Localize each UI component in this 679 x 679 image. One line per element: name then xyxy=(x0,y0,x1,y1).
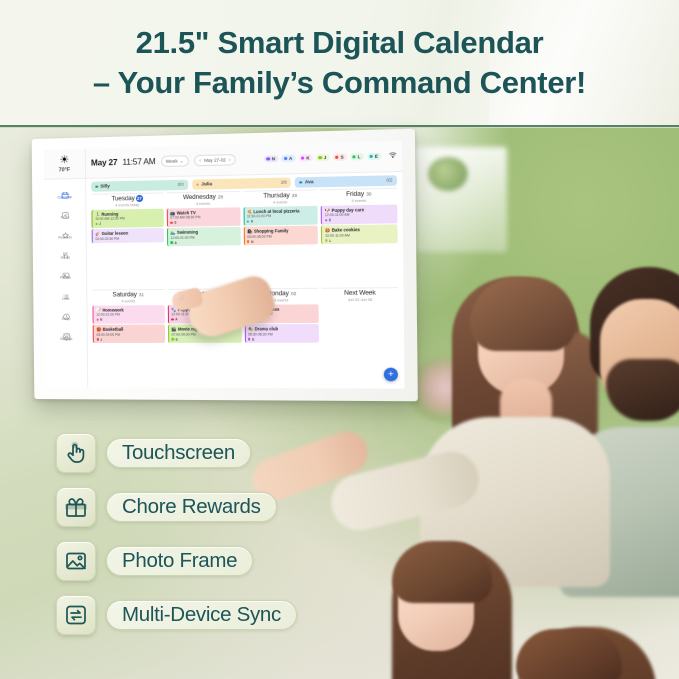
headline-line-2: – Your Family’s Command Center! xyxy=(93,63,586,103)
add-event-button[interactable]: + xyxy=(384,368,398,382)
rewards-icon xyxy=(61,226,69,234)
event-attendee: E xyxy=(325,217,395,222)
member-color-dot xyxy=(301,156,305,160)
feature-label-pill: Chore Rewards xyxy=(106,492,277,522)
event-title-text: Running xyxy=(101,211,118,216)
member-chip-l[interactable]: L xyxy=(350,153,364,161)
sidebar-item-label: Settings xyxy=(60,337,73,341)
feature-badge-multi-device-sync: Multi-Device Sync xyxy=(56,595,297,635)
day-column-wednesday[interactable]: Wednesday284 events📺 Watch TV07:00 AM-08… xyxy=(166,191,240,287)
attendee-initial: J xyxy=(100,338,102,342)
feature-badge-photo-frame: Photo Frame xyxy=(56,541,297,581)
day-event-count: 4 events today xyxy=(91,202,163,207)
attendee-dot xyxy=(325,239,328,242)
view-select[interactable]: Week ⌄ xyxy=(161,155,189,167)
member-chip-a[interactable]: A xyxy=(281,154,296,162)
attendee-initial: S xyxy=(174,221,176,225)
sidebar-item-label: Sleep xyxy=(61,317,70,321)
event-emoji: 🎸 xyxy=(95,231,100,236)
day-column-saturday[interactable]: Saturday314 events📝 Homework12:00-01:00 … xyxy=(92,289,165,384)
event-list: 🐶 Puppy day care12:00-11:00 AME🍪 Bake co… xyxy=(321,204,398,244)
event-attendee: S xyxy=(170,220,237,225)
attendee-initial: N xyxy=(251,239,253,243)
day-number: 29 xyxy=(292,193,297,198)
event-card[interactable]: 🏃 Running10:00 AM-12:00 PMJ xyxy=(91,209,163,228)
event-title-text: Watch TV xyxy=(177,210,196,215)
attendee-initial: J xyxy=(99,222,101,226)
event-emoji: 🏃 xyxy=(95,212,100,217)
sidebar-nav: CalendarTasksRewardsMealsPhotosListsSlee… xyxy=(44,179,88,387)
day-event-count: Jun 02-Jun 08 xyxy=(344,298,376,302)
attendee-initial: E xyxy=(252,337,254,341)
sidebar-item-label: Tasks xyxy=(60,215,69,219)
sidebar-item-settings[interactable]: Settings xyxy=(46,324,87,344)
day-header: Friday305 events xyxy=(321,190,397,203)
current-time: 11:57 AM xyxy=(122,157,155,167)
sidebar-item-photos[interactable]: Photos xyxy=(45,263,86,284)
chore-card-silly[interactable]: Silly0/0 xyxy=(91,180,188,192)
chore-person-name: Ava xyxy=(305,179,314,184)
sidebar-item-tasks[interactable]: Tasks xyxy=(44,202,85,223)
lists-icon xyxy=(62,287,70,295)
day-number-today-badge: 27 xyxy=(136,195,143,202)
member-chip-j[interactable]: J xyxy=(316,153,330,161)
event-time: 05:30-06:30 PM xyxy=(248,332,316,337)
touch-hand-icon xyxy=(56,433,96,473)
event-card[interactable]: 🏀 Basketball03:00-04:00 PMJ xyxy=(93,325,165,343)
event-card[interactable]: 🍪 Bake cookies10:00-11:00 AML xyxy=(321,225,397,245)
member-initial: A xyxy=(289,156,292,161)
attendee-initial: L xyxy=(329,238,331,242)
attendee-dot xyxy=(96,319,98,321)
member-initial: E xyxy=(375,154,378,159)
sidebar-item-rewards[interactable]: Rewards xyxy=(44,223,85,244)
chore-color-dot xyxy=(196,183,199,186)
day-name-text: Wednesday xyxy=(183,194,216,202)
attendee-dot xyxy=(247,240,250,242)
weather-temperature: 70°F xyxy=(59,167,71,173)
attendee-initial: A xyxy=(174,241,176,245)
attendee-initial: E xyxy=(329,218,331,222)
member-color-dot xyxy=(266,157,270,161)
day-column-thursday[interactable]: Thursday294 events🍕 Lunch at local pizze… xyxy=(243,189,319,286)
sidebar-item-label: Rewards xyxy=(58,235,72,239)
chore-person-name: Julia xyxy=(201,182,212,187)
day-number: 02 xyxy=(291,291,296,296)
event-emoji: 🏊 xyxy=(170,230,175,235)
event-attendee: E xyxy=(248,337,316,341)
feature-label: Multi-Device Sync xyxy=(122,603,281,627)
event-card[interactable]: 📝 Homework12:00-01:00 PMN xyxy=(92,305,164,324)
day-name-text: Friday xyxy=(346,191,364,199)
member-initial: K xyxy=(306,155,309,160)
chore-card-julia[interactable]: Julia3/8 xyxy=(192,177,291,189)
event-card[interactable]: 🏊 Swimming12:00-01:00 PMA xyxy=(167,227,241,246)
day-column-tuesday[interactable]: Tuesday274 events today🏃 Running10:00 AM… xyxy=(91,192,164,287)
event-attendee: N xyxy=(96,318,162,322)
feature-label-pill: Touchscreen xyxy=(106,438,251,468)
member-chip-e[interactable]: E xyxy=(367,152,382,160)
day-header: Wednesday284 events xyxy=(166,193,239,206)
member-color-dot xyxy=(352,155,356,159)
day-name-text: Next Week xyxy=(344,290,376,298)
feature-label-pill: Multi-Device Sync xyxy=(106,600,297,630)
attendee-initial: S xyxy=(175,337,177,341)
event-list: 📝 Homework12:00-01:00 PMN🏀 Basketball03:… xyxy=(92,305,164,343)
event-emoji: 🏀 xyxy=(96,327,101,332)
sleep-icon xyxy=(62,308,70,316)
attendee-initial: A xyxy=(175,317,177,321)
girl-two-hairline xyxy=(516,629,622,679)
event-card[interactable]: 🍕 Lunch at local pizzeria11:30-01:00 PMK xyxy=(243,206,318,226)
week-navigator[interactable]: ‹ May 27-02 › xyxy=(194,154,236,166)
header-divider-light xyxy=(0,127,679,128)
chore-card-ava[interactable]: Ava0/2 xyxy=(295,175,397,187)
tasks-icon xyxy=(61,206,69,214)
event-card[interactable]: 📺 Watch TV07:00 AM-08:30 PMS xyxy=(167,207,241,227)
event-card[interactable]: 🐶 Puppy day care12:00-11:00 AME xyxy=(321,204,397,224)
day-name-text: Thursday xyxy=(263,192,289,200)
headline-banner: 21.5" Smart Digital Calendar – Your Fami… xyxy=(0,0,679,126)
day-header: Tuesday274 events today xyxy=(91,195,163,208)
device-screen[interactable]: ☀ 70°F May 27 11:57 AM Week ⌄ ‹ May 27-0… xyxy=(44,141,405,389)
sidebar-item-label: Photos xyxy=(60,276,71,280)
event-emoji: 🎭 xyxy=(248,327,253,332)
sidebar-item-label: Meals xyxy=(61,256,70,260)
day-name: Saturday31 xyxy=(92,291,164,299)
feature-badge-list: TouchscreenChore RewardsPhoto FrameMulti… xyxy=(56,433,297,635)
day-event-count: 4 events xyxy=(166,201,239,206)
view-select-label: Week xyxy=(166,159,178,164)
day-event-count: 4 events xyxy=(92,299,164,304)
event-emoji: 📝 xyxy=(96,307,101,312)
next-week-icon[interactable]: › xyxy=(229,157,231,163)
attendee-initial: K xyxy=(251,219,253,223)
event-attendee: L xyxy=(325,237,395,242)
attendee-dot xyxy=(248,338,251,340)
event-emoji: 🎬 xyxy=(171,327,176,332)
wall-calendar-device: ☀ 70°F May 27 11:57 AM Week ⌄ ‹ May 27-0… xyxy=(32,129,418,402)
chore-color-dot xyxy=(95,185,98,188)
promo-page: 21.5" Smart Digital Calendar – Your Fami… xyxy=(0,0,679,679)
event-list: 🏃 Running10:00 AM-12:00 PMJ🎸 Guitar less… xyxy=(91,209,163,243)
event-emoji: 🐶 xyxy=(325,207,331,212)
event-card[interactable]: 🎸 Guitar lesson02:00-02:30 PM xyxy=(92,228,164,243)
photos-icon xyxy=(61,267,69,275)
screen-main: CalendarTasksRewardsMealsPhotosListsSlee… xyxy=(44,172,405,389)
chevron-down-icon: ⌄ xyxy=(180,158,184,164)
event-time: 02:00-02:30 PM xyxy=(95,236,161,241)
member-color-dot xyxy=(335,155,339,159)
current-date: May 27 xyxy=(91,158,118,168)
day-name-text: Tuesday xyxy=(111,195,134,203)
attendee-dot xyxy=(172,338,174,340)
event-title: 🎭 Drama club xyxy=(248,326,316,331)
weather-widget[interactable]: ☀ 70°F xyxy=(44,149,86,179)
image-icon xyxy=(56,541,96,581)
day-number: 30 xyxy=(366,192,371,197)
chore-count: 0/0 xyxy=(178,182,184,187)
sidebar-item-sleep[interactable]: Sleep xyxy=(45,304,86,324)
event-title-text: Guitar lesson xyxy=(102,231,129,236)
event-title-text: Shopping Family xyxy=(254,228,289,234)
sidebar-item-label: Lists xyxy=(62,296,69,300)
feature-label-pill: Photo Frame xyxy=(106,546,253,576)
sun-icon: ☀ xyxy=(59,155,69,166)
event-title-text: Drama club xyxy=(255,326,279,331)
member-chip-n[interactable]: N xyxy=(264,155,279,163)
feature-label: Chore Rewards xyxy=(122,495,261,519)
member-color-dot xyxy=(369,155,373,159)
feature-label: Photo Frame xyxy=(122,549,237,573)
event-attendee: S xyxy=(172,337,239,341)
day-name: Next Week xyxy=(344,290,376,298)
event-list: 📺 Watch TV07:00 AM-08:30 PMS🏊 Swimming12… xyxy=(167,207,241,246)
attendee-dot xyxy=(171,241,173,243)
day-number: 31 xyxy=(139,293,144,298)
event-card[interactable]: 🛍 Shopping Family03:00-05:00 PMN xyxy=(243,226,318,246)
member-color-dot xyxy=(284,157,288,161)
member-initial: L xyxy=(358,154,361,159)
attendee-dot xyxy=(96,338,98,340)
event-title-text: Swimming xyxy=(177,230,198,235)
event-title-text: Basketball xyxy=(103,327,124,332)
settings-icon xyxy=(62,328,70,336)
day-number: 28 xyxy=(218,195,223,200)
day-header: Saturday314 events xyxy=(92,291,164,303)
feature-badge-chore-rewards: Chore Rewards xyxy=(56,487,297,527)
day-header: Next WeekJun 02-Jun 08 xyxy=(344,290,376,302)
day-name-text: Saturday xyxy=(112,292,136,299)
week-row-one: Tuesday274 events today🏃 Running10:00 AM… xyxy=(91,188,398,288)
wifi-icon xyxy=(389,151,397,161)
gift-icon xyxy=(56,487,96,527)
event-emoji: 🛍 xyxy=(247,229,253,234)
attendee-dot xyxy=(171,318,173,320)
member-chip-s[interactable]: S xyxy=(332,153,347,161)
event-attendee: K xyxy=(247,218,315,223)
event-attendee: A xyxy=(171,240,238,245)
day-event-count: 4 events xyxy=(243,199,318,205)
event-emoji: 📺 xyxy=(170,210,175,215)
event-title-text: Homework xyxy=(102,307,123,312)
feature-badge-touchscreen: Touchscreen xyxy=(56,433,297,473)
event-attendee: N xyxy=(247,239,315,244)
member-initial: S xyxy=(340,155,343,160)
event-title: 🏀 Basketball xyxy=(96,327,162,332)
event-title-text: Lunch at local pizzeria xyxy=(253,208,299,214)
event-list: 🍕 Lunch at local pizzeria11:30-01:00 PMK… xyxy=(243,206,318,246)
meals-icon xyxy=(61,247,69,255)
week-range-label: May 27-02 xyxy=(204,157,226,163)
sidebar-item-lists[interactable]: Lists xyxy=(45,283,86,304)
chore-count: 3/8 xyxy=(281,180,287,185)
fingernail xyxy=(175,294,184,301)
day-column-friday[interactable]: Friday305 events🐶 Puppy day care12:00-11… xyxy=(321,188,398,286)
event-title-text: Bake cookies xyxy=(332,227,360,233)
sidebar-item-calendar[interactable]: Calendar xyxy=(44,182,85,203)
day-header: Thursday294 events xyxy=(243,192,318,205)
chore-person-name: Silly xyxy=(100,184,110,189)
event-emoji: 🍪 xyxy=(325,228,331,233)
chore-count: 0/2 xyxy=(386,178,392,183)
attendee-initial: N xyxy=(100,318,102,322)
calendar-icon xyxy=(61,186,69,194)
event-time: 03:00-04:00 PM xyxy=(96,332,162,336)
attendee-dot xyxy=(170,221,172,223)
feature-label: Touchscreen xyxy=(122,441,235,465)
event-card[interactable]: 🎭 Drama club05:30-06:30 PME xyxy=(244,324,319,343)
chore-color-dot xyxy=(299,181,302,184)
event-emoji: 🍕 xyxy=(247,209,252,214)
member-filter-list: NAKJSLE xyxy=(264,152,382,163)
attendee-dot xyxy=(325,219,328,222)
attendee-dot xyxy=(95,223,97,225)
father-beard xyxy=(606,359,679,421)
girl-one-hairline xyxy=(392,541,492,603)
mother-hairline xyxy=(470,277,576,351)
event-attendee: J xyxy=(96,337,162,341)
sidebar-item-meals[interactable]: Meals xyxy=(45,243,86,264)
member-initial: N xyxy=(272,156,275,161)
member-chip-k[interactable]: K xyxy=(298,154,313,162)
sync-arrows-icon xyxy=(56,595,96,635)
member-initial: J xyxy=(324,155,327,160)
event-time: 12:00-01:00 PM xyxy=(96,313,162,318)
headline-line-1: 21.5" Smart Digital Calendar xyxy=(136,23,544,63)
event-attendee: J xyxy=(95,221,161,226)
sidebar-item-label: Calendar xyxy=(58,195,72,199)
day-event-count: 5 events xyxy=(321,198,397,204)
attendee-dot xyxy=(247,220,250,222)
prev-week-icon[interactable]: ‹ xyxy=(199,157,201,163)
member-color-dot xyxy=(318,156,322,160)
event-title-text: Puppy day care xyxy=(331,207,364,213)
